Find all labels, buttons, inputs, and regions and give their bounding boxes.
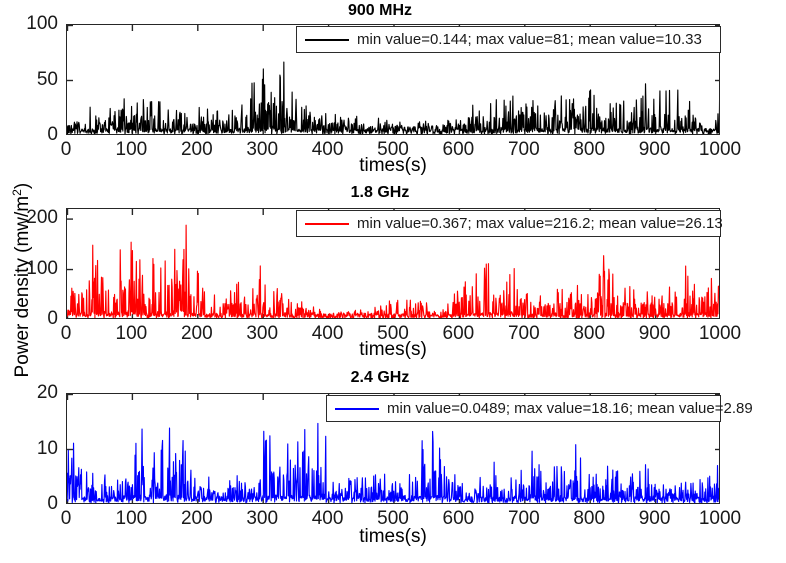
x-tick-label: 0	[36, 323, 96, 345]
subplot-24ghz: 2.4 GHz min value=0.0489; max value=18.1…	[0, 369, 786, 563]
x-tick-label: 800	[559, 139, 619, 161]
x-tick-label: 600	[428, 139, 488, 161]
subplot-title-900mhz: 900 MHz	[0, 2, 760, 20]
legend-line-sample-24ghz	[335, 408, 379, 410]
x-tick-label: 500	[363, 139, 423, 161]
x-tick-label: 800	[559, 323, 619, 345]
x-tick-label: 600	[428, 323, 488, 345]
data-trace-1	[67, 225, 720, 319]
x-tick-label: 0	[36, 139, 96, 161]
x-tick-label: 700	[494, 139, 554, 161]
y-tick-label: 100	[0, 258, 58, 280]
x-tick-label: 100	[101, 323, 161, 345]
x-tick-label: 500	[363, 508, 423, 530]
x-tick-label: 1000	[690, 139, 750, 161]
data-trace-2	[67, 423, 720, 503]
x-tick-label: 500	[363, 323, 423, 345]
x-tick-label: 400	[298, 323, 358, 345]
x-tick-label: 200	[167, 139, 227, 161]
x-tick-label: 1000	[690, 323, 750, 345]
x-tick-label: 1000	[690, 508, 750, 530]
x-tick-label: 900	[625, 508, 685, 530]
y-tick-label: 200	[0, 207, 58, 229]
x-tick-label: 300	[232, 508, 292, 530]
legend-line-sample-900mhz	[305, 39, 349, 41]
data-trace-0	[67, 62, 720, 134]
legend-24ghz[interactable]: min value=0.0489; max value=18.16; mean …	[326, 395, 721, 422]
legend-900mhz[interactable]: min value=0.144; max value=81; mean valu…	[296, 26, 721, 53]
x-tick-label: 900	[625, 323, 685, 345]
figure-canvas: Power density (mw/m2) 900 MHz min value=…	[0, 0, 786, 563]
x-tick-label: 600	[428, 508, 488, 530]
subplot-18ghz: 1.8 GHz min value=0.367; max value=216.2…	[0, 184, 786, 366]
legend-line-sample-18ghz	[305, 223, 349, 225]
y-tick-label: 100	[0, 13, 58, 35]
x-tick-label: 400	[298, 508, 358, 530]
x-tick-label: 800	[559, 508, 619, 530]
x-tick-label: 400	[298, 139, 358, 161]
x-tick-label: 700	[494, 323, 554, 345]
x-tick-label: 100	[101, 508, 161, 530]
y-tick-label: 50	[0, 69, 58, 91]
y-tick-label: 10	[0, 438, 58, 460]
y-tick-label: 20	[0, 382, 58, 404]
x-tick-label: 100	[101, 139, 161, 161]
x-tick-label: 200	[167, 323, 227, 345]
subplot-title-24ghz: 2.4 GHz	[0, 369, 760, 387]
x-tick-label: 300	[232, 323, 292, 345]
legend-label-24ghz: min value=0.0489; max value=18.16; mean …	[387, 401, 753, 416]
subplot-title-18ghz: 1.8 GHz	[0, 184, 760, 202]
subplot-900mhz: 900 MHz min value=0.144; max value=81; m…	[0, 0, 786, 180]
legend-label-900mhz: min value=0.144; max value=81; mean valu…	[357, 32, 702, 47]
legend-label-18ghz: min value=0.367; max value=216.2; mean v…	[357, 216, 723, 231]
x-tick-label: 300	[232, 139, 292, 161]
x-tick-label: 700	[494, 508, 554, 530]
x-tick-label: 900	[625, 139, 685, 161]
x-tick-label: 200	[167, 508, 227, 530]
legend-18ghz[interactable]: min value=0.367; max value=216.2; mean v…	[296, 210, 721, 237]
x-tick-label: 0	[36, 508, 96, 530]
